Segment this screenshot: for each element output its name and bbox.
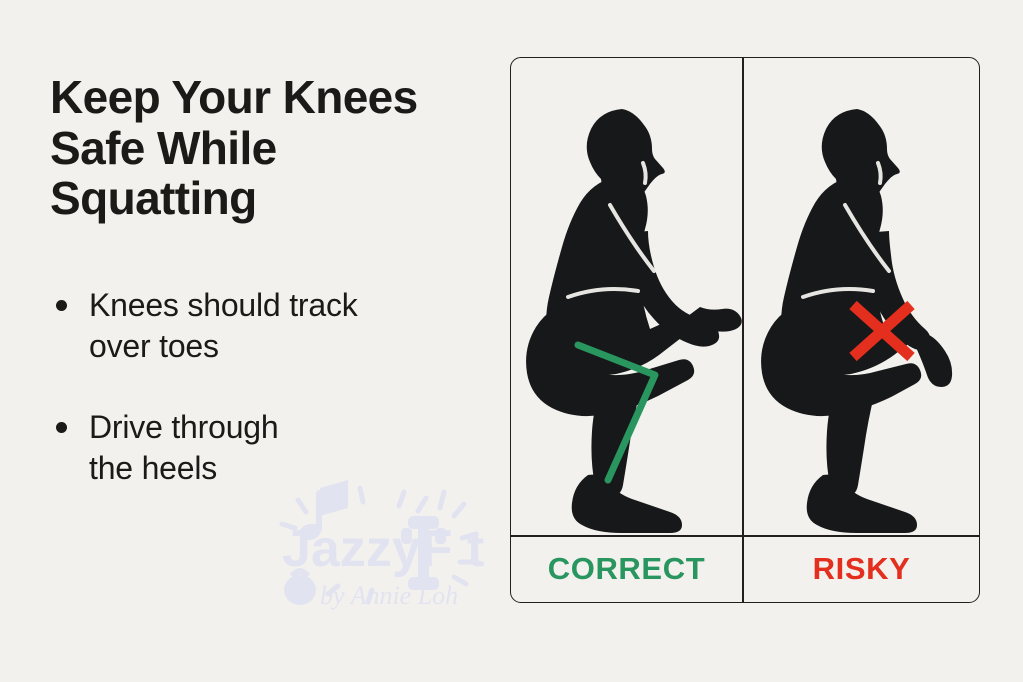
comparison-cell-risky (743, 57, 980, 535)
list-item-text: Knees should track over toes (89, 285, 358, 367)
status-badge-correct: CORRECT (510, 536, 743, 602)
page-title-line-2: Safe While (50, 123, 480, 174)
kettlebell-icon (284, 568, 316, 605)
squatting-silhouette-risky (743, 57, 980, 535)
watermark-byline-text: by Annie Loh (320, 581, 458, 610)
list-item-line-2: over toes (89, 326, 358, 367)
list-item-line-1: Drive through (89, 407, 279, 448)
headline-block: Keep Your Knees Safe While Squatting (50, 72, 480, 224)
status-badge-risky: RISKY (743, 536, 980, 602)
comparison-cell-correct (510, 57, 743, 535)
list-item-text: Drive through the heels (89, 407, 279, 489)
list-item-line-2: the heels (89, 448, 279, 489)
page-title-line-3: Squatting (50, 173, 480, 224)
squatting-silhouette-correct (510, 57, 743, 535)
page-title: Keep Your Knees Safe While Squatting (50, 72, 480, 224)
bullet-dot-icon (56, 422, 67, 433)
tips-list: Knees should track over toes Drive throu… (56, 285, 476, 529)
infographic-canvas: Keep Your Knees Safe While Squatting Kne… (0, 0, 1023, 682)
page-title-line-1: Keep Your Knees (50, 72, 480, 123)
list-item-line-1: Knees should track (89, 285, 358, 326)
list-item: Knees should track over toes (56, 285, 476, 367)
list-item: Drive through the heels (56, 407, 476, 489)
bullet-dot-icon (56, 300, 67, 311)
